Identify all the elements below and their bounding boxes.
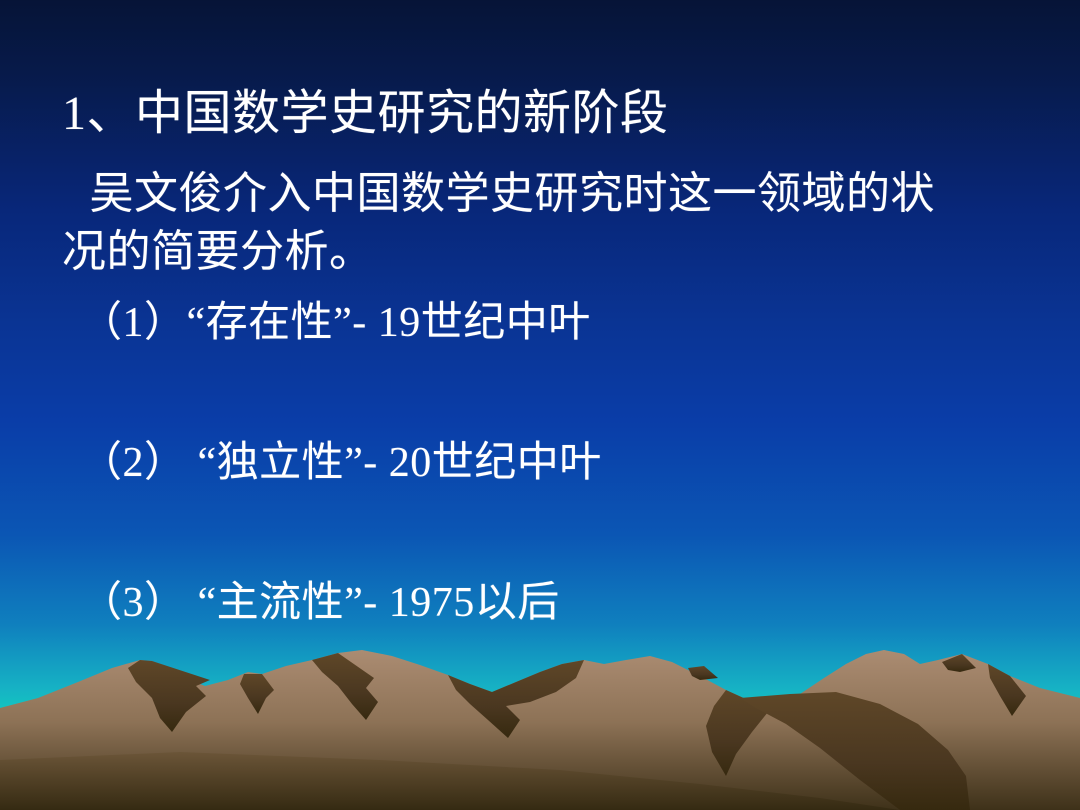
slide-title: 1、中国数学史研究的新阶段 (62, 90, 669, 138)
slide-body-line-1: 吴文俊介入中国数学史研究时这一领域的状 (78, 172, 935, 216)
mountain-shadow-faces (128, 653, 1026, 810)
mountain-light-faces (0, 650, 1080, 810)
slide-body-line-2: 况的简要分析。 (62, 230, 374, 274)
mountain-range-silhouette (0, 620, 1080, 810)
slide-list-item-2: （2） “独立性”- 20世纪中叶 (80, 442, 602, 484)
presentation-slide: 1、中国数学史研究的新阶段 吴文俊介入中国数学史研究时这一领域的状 况的简要分析… (0, 0, 1080, 810)
slide-list-item-1: （1）“存在性”- 19世纪中叶 (80, 302, 591, 344)
mountain-base (0, 752, 900, 810)
slide-list-item-3: （3） “主流性”- 1975以后 (80, 582, 560, 624)
